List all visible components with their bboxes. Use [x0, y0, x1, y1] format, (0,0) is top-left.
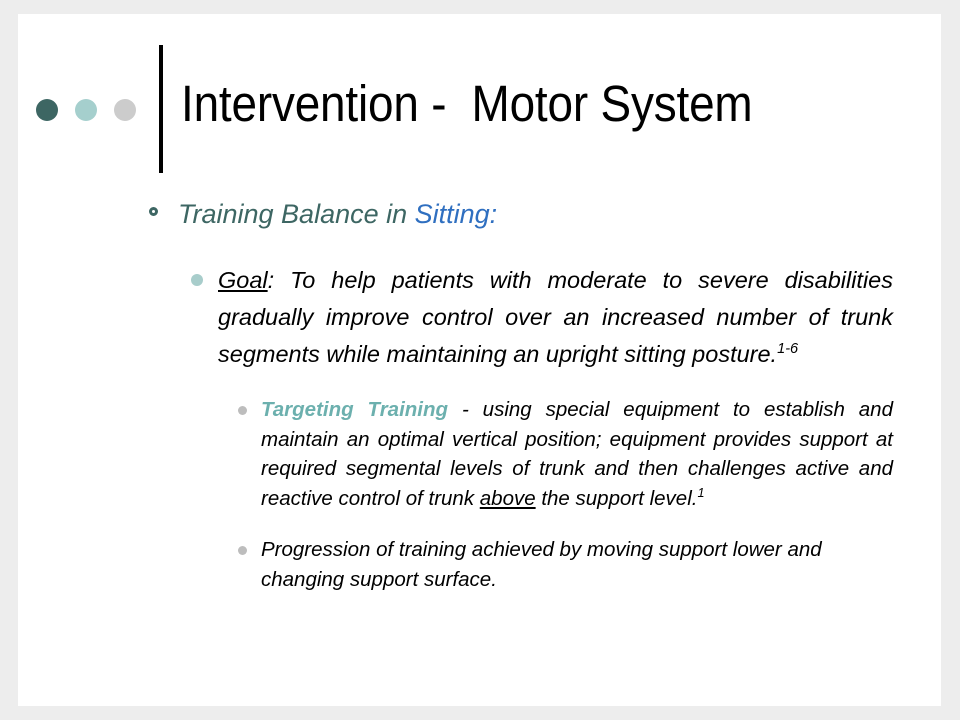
targeting-training-citation: 1	[697, 485, 704, 500]
bullet-level3-text: Progression of training achieved by movi…	[261, 535, 893, 594]
decor-dot-dark-icon	[36, 99, 58, 121]
decor-dot-light-icon	[75, 99, 97, 121]
bullet-level1-main: Training Balance in	[178, 199, 415, 229]
progression-body: Progression of training achieved by movi…	[261, 538, 822, 591]
targeting-training-body-2: the support level.	[536, 487, 698, 510]
bullet-level3-progression: Progression of training achieved by movi…	[18, 535, 941, 594]
title-vertical-rule	[159, 45, 163, 173]
bullet-level2-goal: Goal: To help patients with moderate to …	[18, 262, 941, 373]
bullet-level3-text: Targeting Training - using special equip…	[261, 395, 893, 513]
small-dot-bullet-icon	[238, 406, 247, 415]
bullet-level1: Training Balance in Sitting:	[18, 198, 941, 230]
bullet-level1-accent: Sitting:	[415, 199, 498, 229]
goal-label: Goal	[218, 267, 268, 293]
goal-label-suffix: :	[268, 267, 290, 293]
small-dot-bullet-icon	[238, 546, 247, 555]
filled-circle-bullet-icon	[191, 274, 203, 286]
decor-dot-gray-icon	[114, 99, 136, 121]
page-title: Intervention - Motor System	[181, 76, 752, 132]
slide-canvas: Intervention - Motor System Training Bal…	[18, 14, 941, 706]
slide-title-block: Intervention - Motor System	[18, 14, 941, 184]
bullet-level2-text: Goal: To help patients with moderate to …	[218, 262, 893, 373]
targeting-training-lead: Targeting Training	[261, 398, 448, 421]
decorative-dots-group	[36, 99, 136, 121]
goal-citation: 1-6	[777, 341, 798, 357]
open-circle-bullet-icon	[149, 207, 158, 216]
targeting-training-emphasis: above	[480, 487, 536, 510]
bullet-level3-targeting-training: Targeting Training - using special equip…	[18, 395, 941, 513]
bullet-level1-text: Training Balance in Sitting:	[178, 198, 941, 230]
slide-body: Training Balance in Sitting: Goal: To he…	[18, 184, 941, 594]
